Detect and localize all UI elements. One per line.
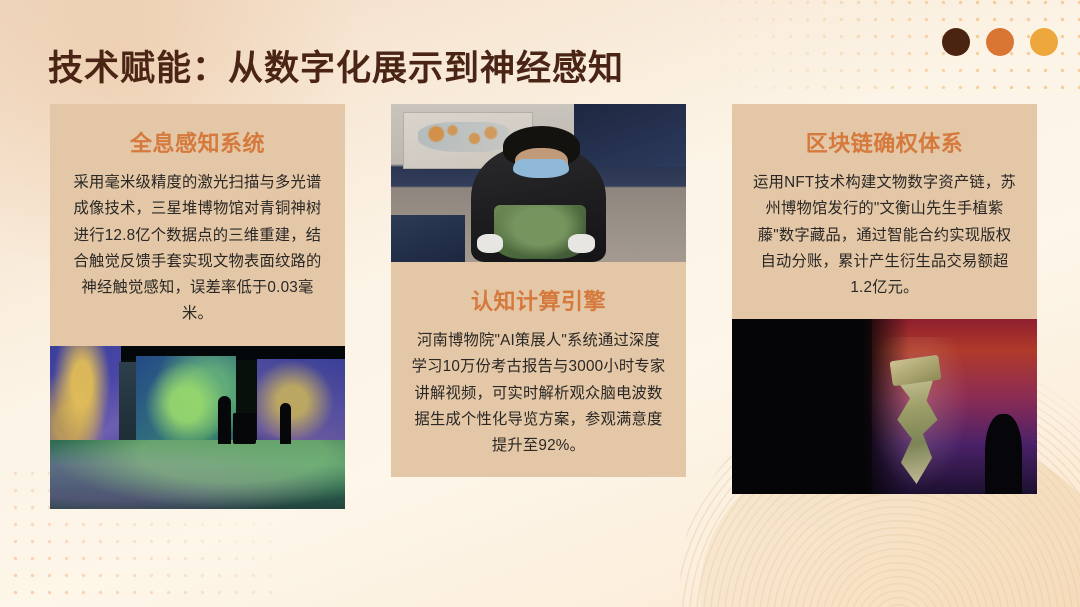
dot-orange-icon: [986, 28, 1014, 56]
card-body: 河南博物院"AI策展人"系统通过深度学习10万份考古报告与3000小时专家讲解视…: [411, 328, 666, 459]
card-body: 采用毫米级精度的激光扫描与多光谱成像技术，三星堆博物馆对青铜神树进行12.8亿个…: [70, 170, 325, 328]
decorative-dot-trio: [942, 28, 1058, 56]
stage-lit-sculpture-photo: [732, 319, 1037, 494]
card-title: 区块链确权体系: [752, 126, 1017, 158]
card-text-panel: 全息感知系统 采用毫米级精度的激光扫描与多光谱成像技术，三星堆博物馆对青铜神树进…: [50, 104, 345, 346]
card-title: 认知计算引擎: [411, 284, 666, 316]
card-blockchain-rights-system: 区块链确权体系 运用NFT技术构建文物数字资产链，苏州博物馆发行的"文衡山先生手…: [732, 104, 1037, 566]
card-holographic-perception: 全息感知系统 采用毫米级精度的激光扫描与多光谱成像技术，三星堆博物馆对青铜神树进…: [50, 104, 345, 566]
card-body: 运用NFT技术构建文物数字资产链，苏州博物馆发行的"文衡山先生手植紫藤"数字藏品…: [752, 170, 1017, 301]
dot-amber-icon: [1030, 28, 1058, 56]
conservator-bronze-mask-photo: [391, 104, 686, 262]
card-text-panel: 认知计算引擎 河南博物院"AI策展人"系统通过深度学习10万份考古报告与3000…: [391, 262, 686, 477]
card-text-panel: 区块链确权体系 运用NFT技术构建文物数字资产链，苏州博物馆发行的"文衡山先生手…: [732, 104, 1037, 319]
card-cognitive-computing-engine: 认知计算引擎 河南博物院"AI策展人"系统通过深度学习10万份考古报告与3000…: [391, 104, 686, 566]
dot-dark-brown-icon: [942, 28, 970, 56]
card-title: 全息感知系统: [70, 126, 325, 158]
page-title: 技术赋能：从数字化展示到神经感知: [48, 40, 624, 91]
immersive-projection-hall-photo: [50, 346, 345, 509]
